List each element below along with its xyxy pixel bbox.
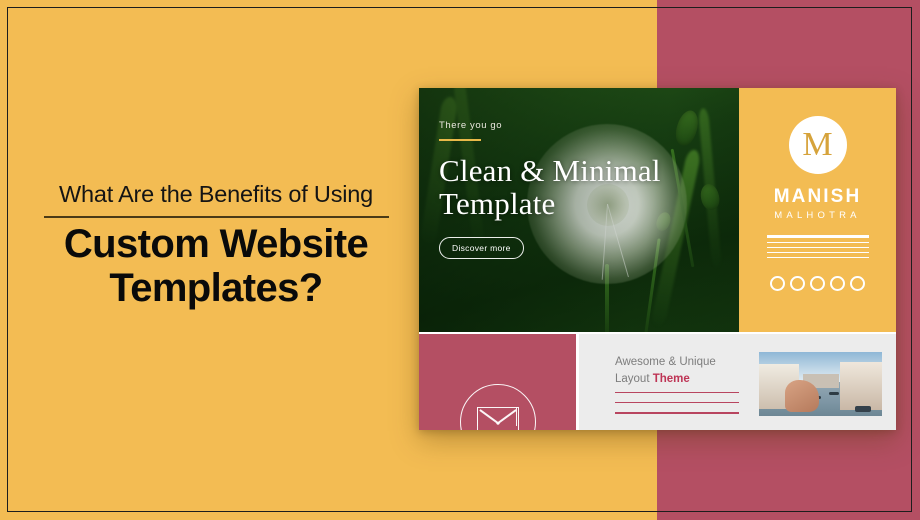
hero-eyebrow-underline: [439, 139, 481, 141]
brand-dot-icon: [850, 276, 865, 291]
brand-dot-icon: [770, 276, 785, 291]
discover-more-button[interactable]: Discover more: [439, 237, 524, 259]
envelope-icon: [477, 407, 519, 430]
brand-dot-icon: [830, 276, 845, 291]
poster-canvas: What Are the Benefits of Using Custom We…: [0, 0, 920, 520]
website-template-card[interactable]: There you go Clean & Minimal Template Di…: [419, 88, 896, 430]
info-heading: Awesome & Unique Layout Theme: [615, 354, 745, 387]
card-bottom-row: Awesome & Unique Layout Theme: [419, 334, 896, 430]
hero-title-line2: Template: [439, 188, 739, 221]
brand-dot-icon: [810, 276, 825, 291]
headline-divider: [44, 216, 389, 218]
monogram-badge: M: [789, 116, 847, 174]
venice-canal-photo: [759, 352, 882, 416]
card-hero-section: There you go Clean & Minimal Template Di…: [419, 88, 739, 332]
brand-panel: M MANISH MALHOTRA: [739, 88, 896, 332]
headline-block: What Are the Benefits of Using Custom We…: [26, 180, 406, 311]
info-heading-accent: Theme: [653, 373, 690, 385]
headline-subtitle: What Are the Benefits of Using: [26, 180, 406, 208]
headline-title-line2: Templates?: [26, 266, 406, 311]
brand-dot-row: [770, 276, 865, 291]
info-block: Awesome & Unique Layout Theme: [579, 334, 896, 430]
info-divider-lines: [615, 392, 739, 423]
hero-eyebrow: There you go: [439, 120, 739, 131]
envelope-circle: [460, 384, 536, 430]
brand-divider-lines: [767, 235, 869, 262]
brand-surname: MALHOTRA: [774, 210, 860, 221]
monogram-letter: M: [802, 128, 832, 162]
headline-title-line1: Custom Website: [26, 222, 406, 267]
hero-title-line1: Clean & Minimal: [439, 155, 739, 188]
contact-block[interactable]: [419, 334, 576, 430]
brand-dot-icon: [790, 276, 805, 291]
brand-name: MANISH: [774, 186, 862, 208]
